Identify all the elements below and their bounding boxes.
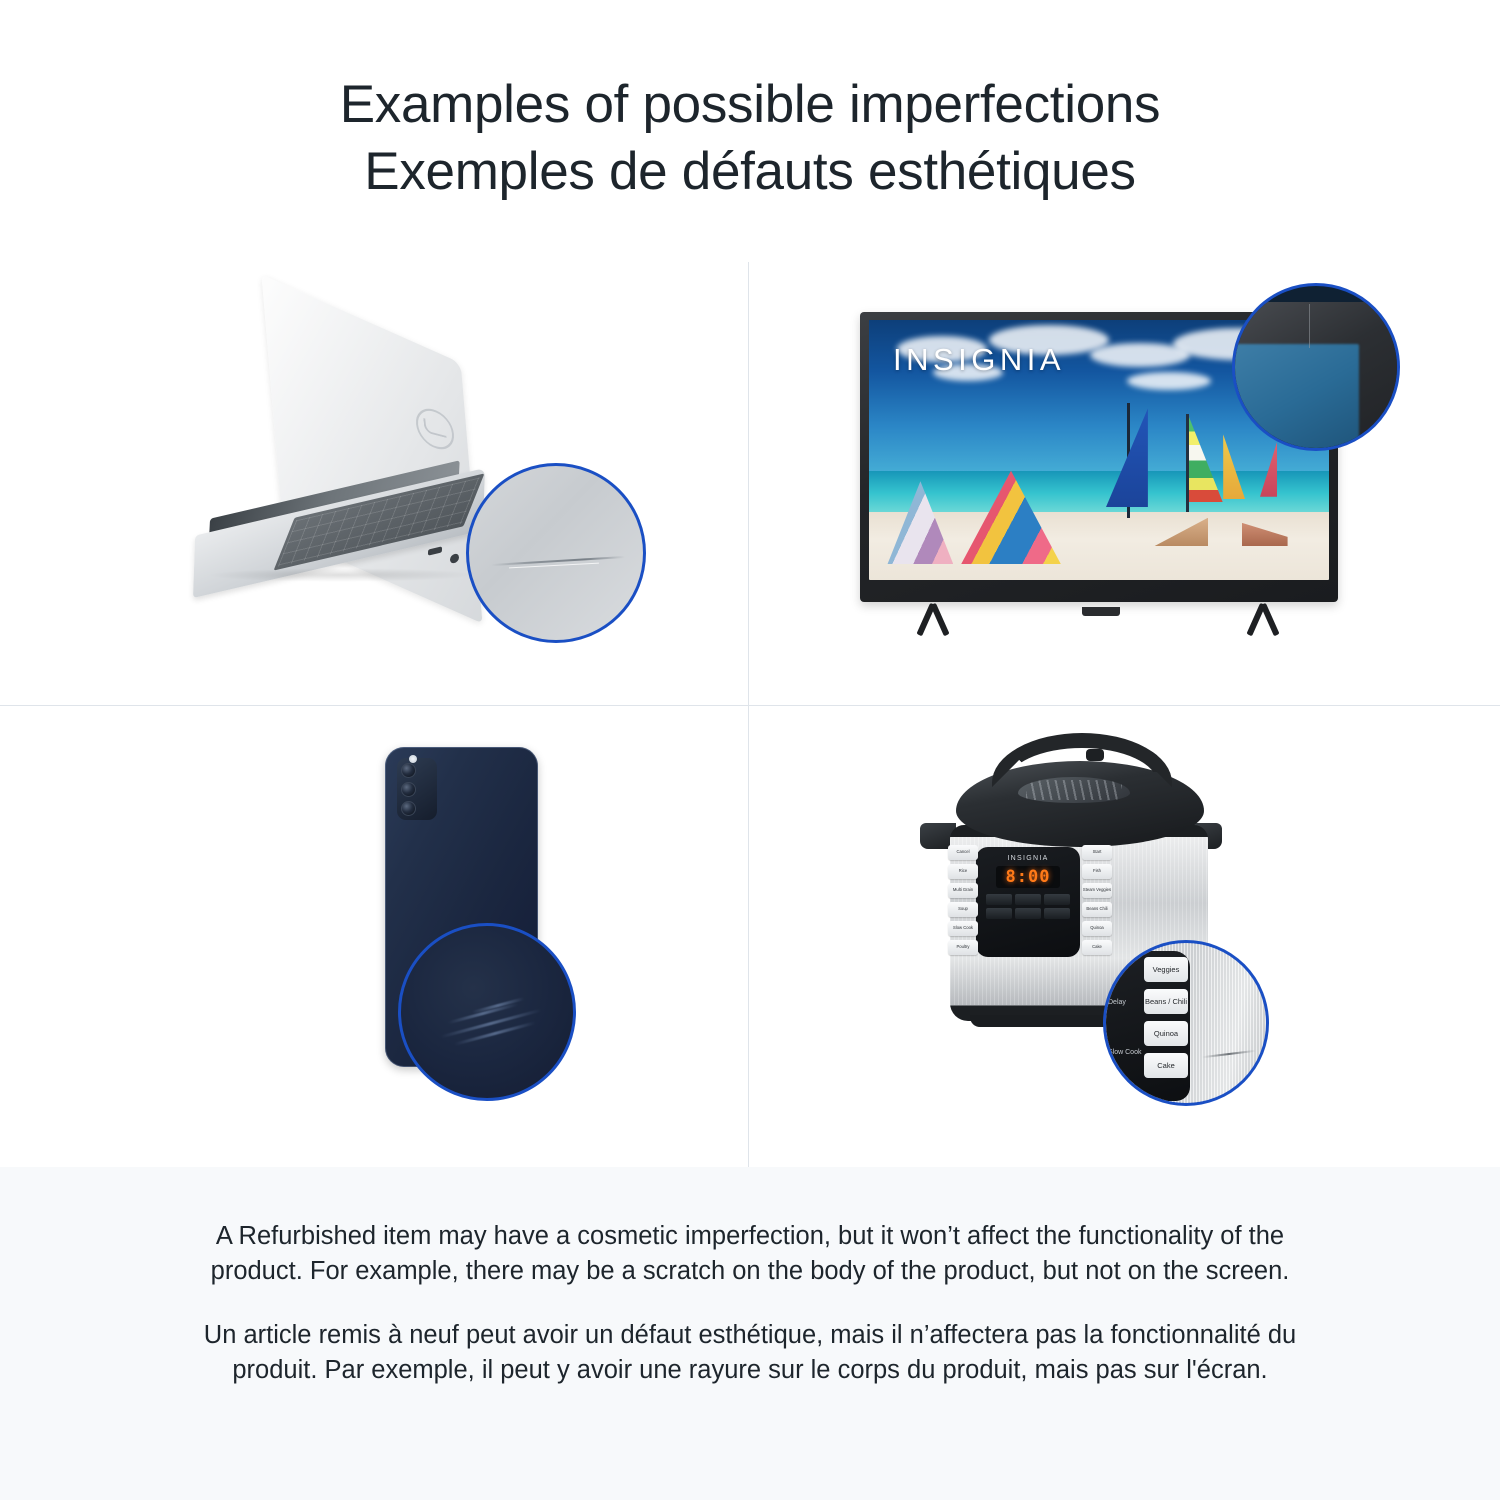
cooker-button-poultry[interactable]: Poultry bbox=[948, 940, 978, 955]
magnified-button-cake[interactable]: Cake bbox=[1144, 1053, 1188, 1078]
cooker-lid-vent bbox=[1018, 777, 1130, 803]
magnifier-circle-pressure-cooker: Delay Slow Cook Veggies Beans / Chili Qu… bbox=[1103, 940, 1269, 1106]
example-cell-smartphone bbox=[0, 705, 748, 1167]
cooker-led-display: 8:00 bbox=[996, 866, 1060, 888]
defect-mark-television bbox=[1309, 304, 1310, 348]
footer-paragraph-english: A Refurbished item may have a cosmetic i… bbox=[180, 1219, 1320, 1288]
magnified-button-column[interactable]: Veggies Beans / Chili Quinoa Cake bbox=[1144, 957, 1188, 1078]
cooker-panel-button[interactable] bbox=[1044, 908, 1070, 919]
cooker-panel-button[interactable] bbox=[986, 908, 1012, 919]
cooker-brand-logo: INSIGNIA bbox=[982, 855, 1074, 862]
screen-sea bbox=[869, 471, 1329, 515]
cooker-panel-button[interactable] bbox=[1044, 894, 1070, 905]
camera-lens-icon bbox=[401, 782, 416, 797]
magnifier-circle-television bbox=[1232, 283, 1400, 451]
cooker-button-cancel[interactable]: Cancel bbox=[948, 845, 978, 860]
page-footer: A Refurbished item may have a cosmetic i… bbox=[0, 1167, 1500, 1500]
footer-paragraph-french: Un article remis à neuf peut avoir un dé… bbox=[180, 1318, 1320, 1387]
refurbished-imperfections-infographic: Examples of possible imperfections Exemp… bbox=[0, 0, 1500, 1500]
television-left-leg bbox=[904, 604, 964, 638]
smartphone-camera-module-icon bbox=[397, 758, 437, 820]
magnified-button-quinoa[interactable]: Quinoa bbox=[1144, 1021, 1188, 1046]
magnified-tv-corner bbox=[1235, 286, 1397, 448]
cooker-panel-buttons[interactable] bbox=[982, 894, 1074, 919]
television-right-leg bbox=[1234, 604, 1294, 638]
magnified-label-delay: Delay bbox=[1108, 999, 1126, 1006]
camera-flash-icon bbox=[409, 755, 417, 763]
television-brand-logo: INSIGNIA bbox=[893, 342, 1065, 378]
television-screen-edge bbox=[1232, 344, 1359, 451]
cooker-control-panel[interactable]: INSIGNIA 8:00 bbox=[976, 847, 1080, 957]
cooker-panel-button[interactable] bbox=[1015, 908, 1041, 919]
cooker-button-multigrain[interactable]: Multi Grain bbox=[948, 883, 978, 898]
defect-scratch-phone bbox=[454, 1021, 536, 1046]
page-header: Examples of possible imperfections Exemp… bbox=[0, 0, 1500, 262]
magnifier-circle-smartphone bbox=[398, 923, 576, 1101]
cooker-button-slowcook[interactable]: Slow Cook bbox=[948, 921, 978, 936]
cooker-pressure-valve-icon bbox=[1086, 749, 1104, 761]
cooker-button-quinoa[interactable]: Quinoa bbox=[1082, 921, 1112, 936]
cooker-button-soup[interactable]: Soup bbox=[948, 902, 978, 917]
cooker-left-button-column[interactable]: Cancel Rice Multi Grain Soup Slow Cook P… bbox=[948, 845, 978, 955]
cooker-right-button-column[interactable]: Start Fish Steam Veggies Beans Chili Qui… bbox=[1082, 845, 1112, 955]
magnified-button-veggies[interactable]: Veggies bbox=[1144, 957, 1188, 982]
example-cell-laptop bbox=[0, 262, 748, 705]
cooker-button-steam-veggies[interactable]: Steam Veggies bbox=[1082, 883, 1112, 898]
camera-lens-icon bbox=[401, 801, 416, 816]
screen-cloud bbox=[1127, 372, 1211, 390]
television-ir-sensor-icon bbox=[1082, 607, 1120, 616]
cooker-panel-button[interactable] bbox=[986, 894, 1012, 905]
page-title-english: Examples of possible imperfections bbox=[340, 71, 1161, 138]
cooker-button-start[interactable]: Start bbox=[1082, 845, 1112, 860]
magnified-label-slowcook: Slow Cook bbox=[1108, 1049, 1141, 1056]
magnified-button-beans-chili[interactable]: Beans / Chili bbox=[1144, 989, 1188, 1014]
cooker-button-beans-chili[interactable]: Beans Chili bbox=[1082, 902, 1112, 917]
laptop-shadow bbox=[202, 568, 480, 582]
page-title-french: Exemples de défauts esthétiques bbox=[364, 138, 1135, 205]
cooker-button-rice[interactable]: Rice bbox=[948, 864, 978, 879]
defect-scratch-phone bbox=[448, 1003, 518, 1025]
camera-lens-icon bbox=[401, 763, 416, 778]
cooker-panel-button[interactable] bbox=[1015, 894, 1041, 905]
magnifier-circle-laptop bbox=[466, 463, 646, 643]
cooker-button-fish[interactable]: Fish bbox=[1082, 864, 1112, 879]
